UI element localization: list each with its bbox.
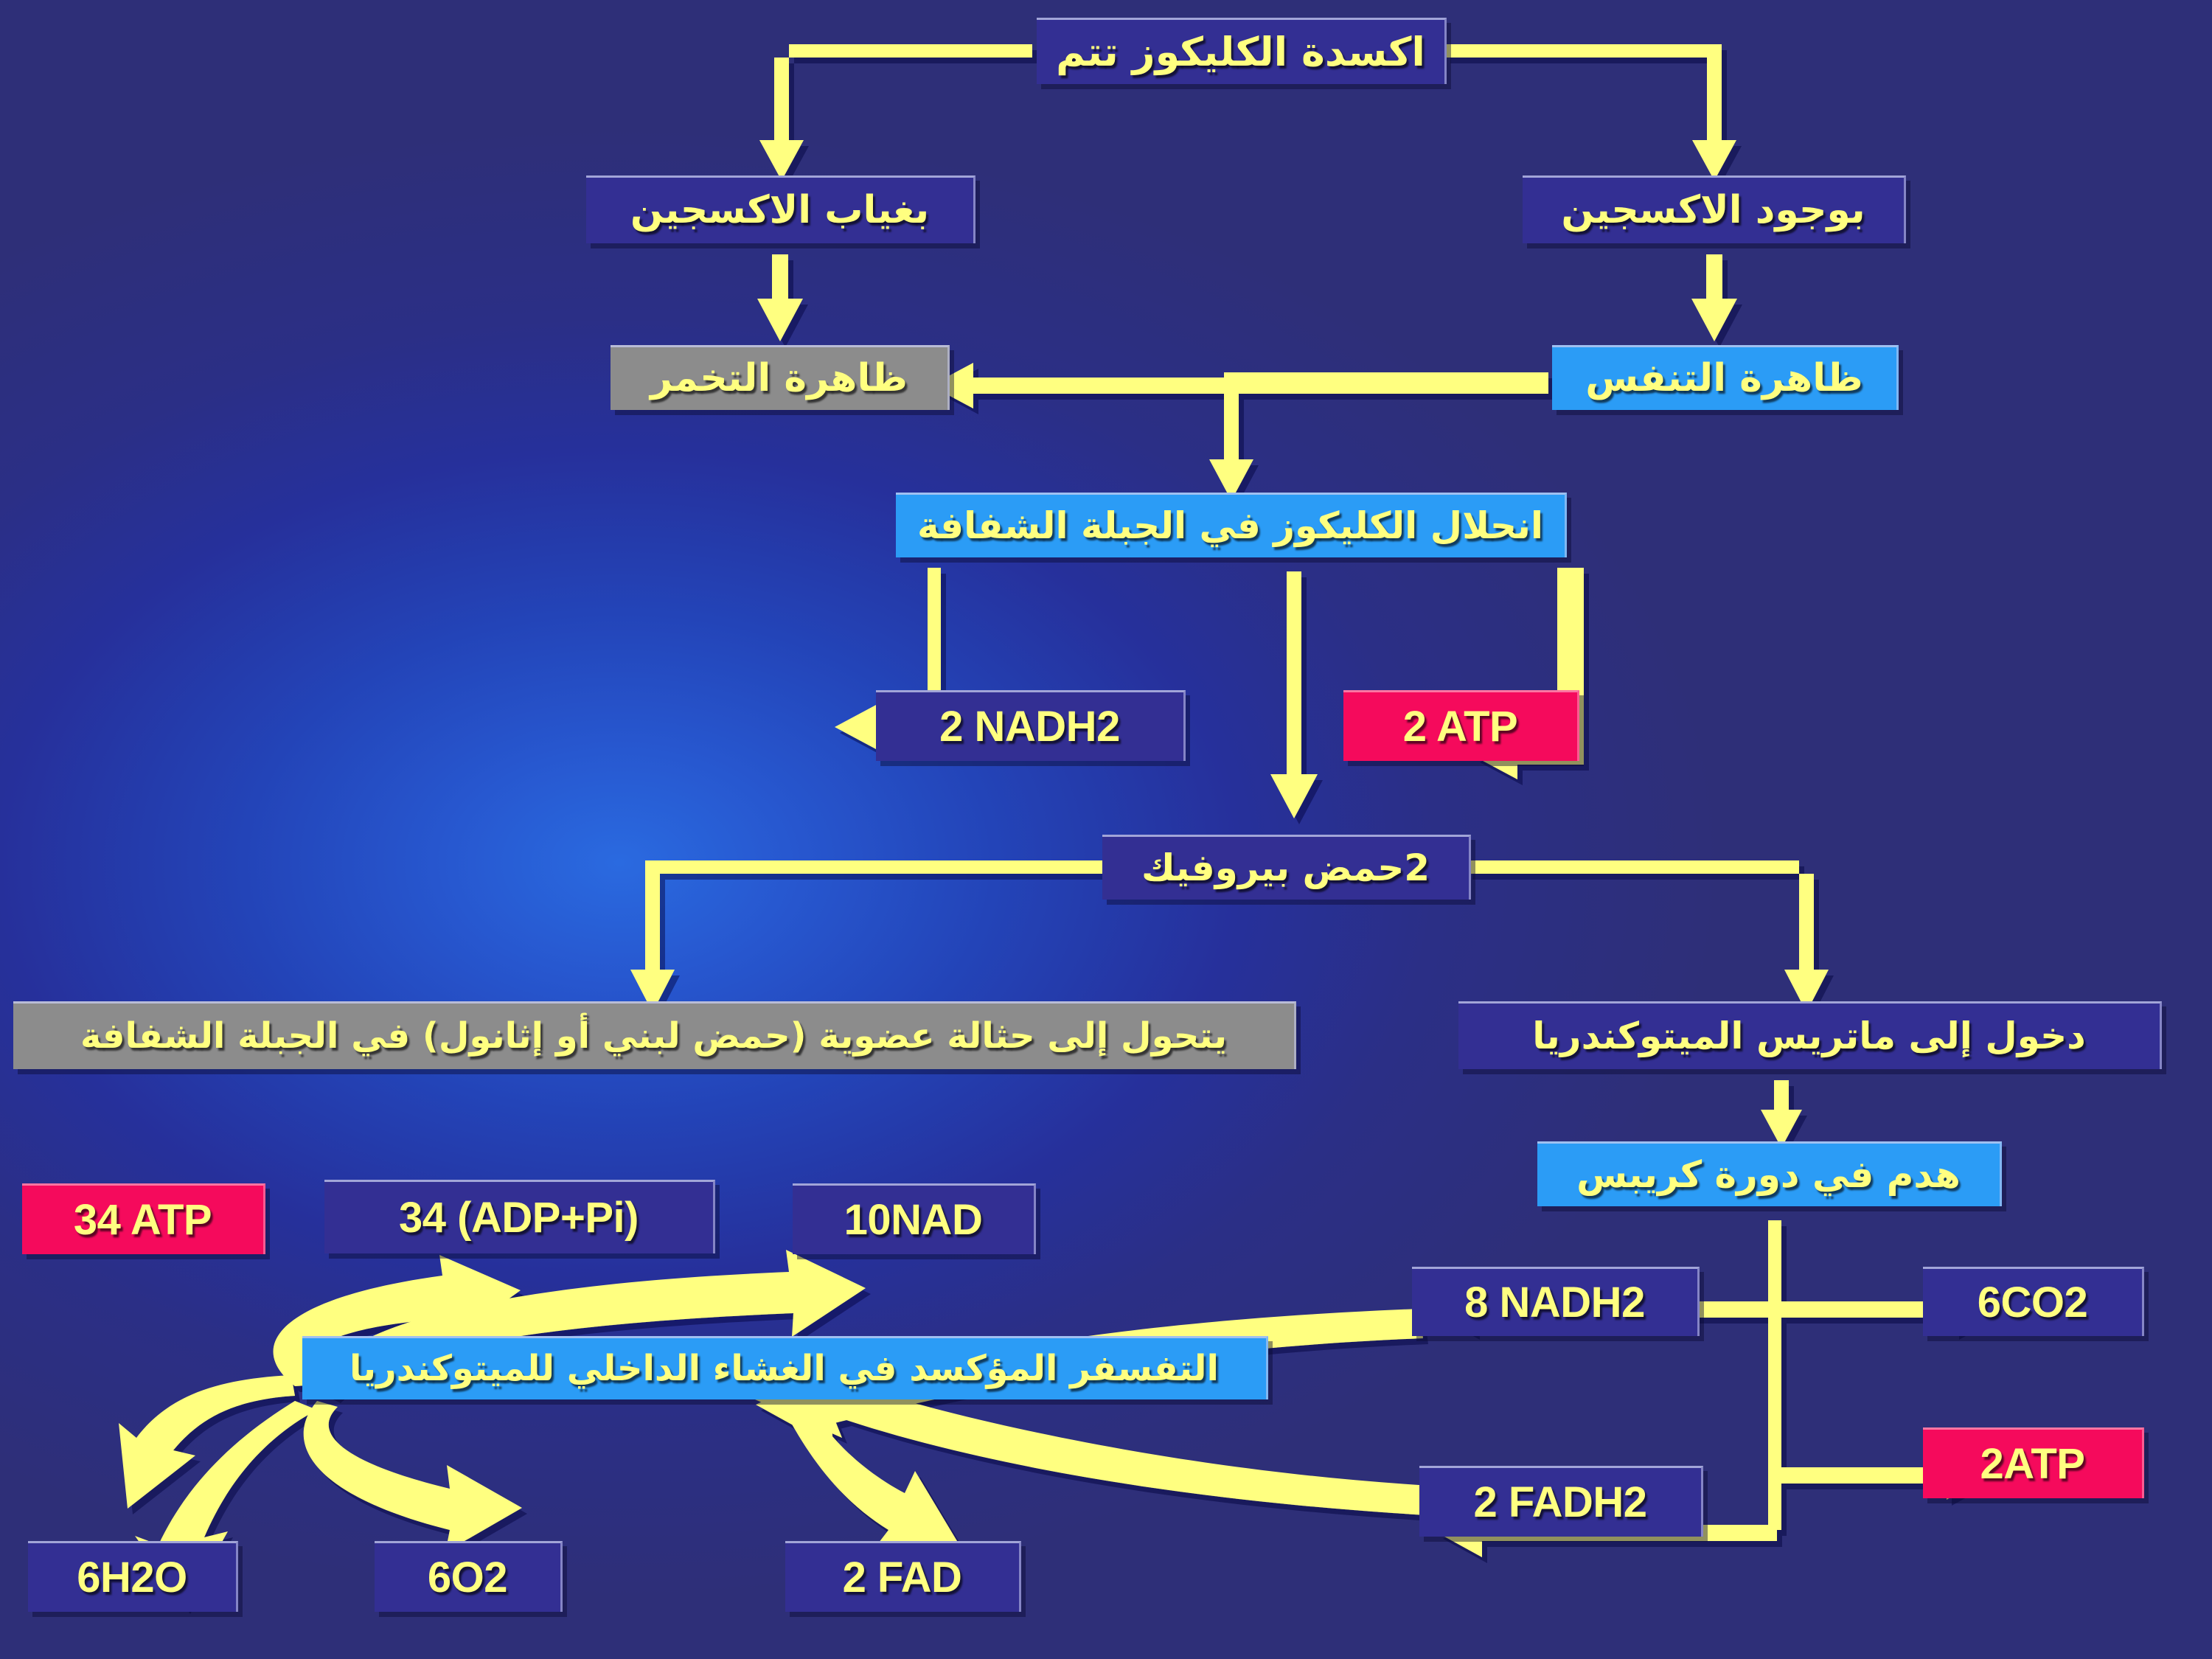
node-nadh2-2[interactable]: 2 NADH2 [876, 690, 1186, 761]
node-nadh2-8[interactable]: 8 NADH2 [1412, 1267, 1700, 1336]
edge-aerobic-to-respiration [1691, 254, 1737, 341]
node-oxidative-phosphorylation[interactable]: التفسفر المؤكسد في الغشاء الداخلي للميتو… [302, 1336, 1268, 1399]
slide-canvas: اكسدة الكليكوز تتم بغياب الاكسجين بوجود … [0, 0, 2212, 1659]
node-adp-pi-34[interactable]: 34 (ADP+Pi) [324, 1180, 715, 1253]
edge-oxidation-to-aerobic [1445, 44, 1736, 181]
node-respiration[interactable]: ظاهرة التنفس [1552, 345, 1899, 410]
node-nad-10[interactable]: 10NAD [793, 1183, 1036, 1254]
node-mitochondrial-matrix[interactable]: دخول إلى ماتريس الميتوكندريا [1458, 1001, 2162, 1069]
edge-oxidation-to-anaerobic [759, 44, 1032, 181]
node-with-oxygen[interactable]: بوجود الاكسجين [1523, 175, 1906, 243]
node-o2-6[interactable]: 6O2 [375, 1541, 563, 1612]
node-h2o-6[interactable]: 6H2O [28, 1541, 238, 1612]
node-atp-34[interactable]: 34 ATP [22, 1183, 265, 1254]
node-krebs-cycle[interactable]: هدم في دورة كريبس [1537, 1141, 2002, 1206]
edge-glycolysis-to-pyruvate [1270, 571, 1318, 818]
edge-anaerobic-to-fermentation [757, 254, 803, 341]
edge-o2-to-oxphos [304, 1401, 522, 1552]
node-fadh2-2[interactable]: 2 FADH2 [1419, 1466, 1703, 1537]
node-without-oxygen[interactable]: بغياب الاكسجين [586, 175, 975, 243]
edge-pyruvate-to-waste [630, 860, 1135, 1012]
node-fermentation[interactable]: ظاهرة التخمر [611, 345, 950, 410]
node-pyruvic-acid[interactable]: 2حمض بيروفيك [1102, 835, 1471, 900]
connector-layer [0, 0, 2212, 1659]
edge-pyruvate-to-matrix [1467, 860, 1829, 1012]
node-atp-2[interactable]: 2 ATP [1343, 690, 1579, 761]
node-atp-2-krebs[interactable]: 2ATP [1923, 1427, 2144, 1498]
edge-matrix-to-krebs [1761, 1080, 1802, 1148]
node-fad-2[interactable]: 2 FAD [785, 1541, 1021, 1612]
node-glycolysis[interactable]: انحلال الكليكوز في الجبلة الشفافة [896, 493, 1567, 557]
node-glucose-oxidation[interactable]: اكسدة الكليكوز تتم [1037, 18, 1447, 84]
node-co2-6[interactable]: 6CO2 [1923, 1267, 2144, 1336]
node-organic-waste[interactable]: يتحول إلى حثالة عضوية (حمض لبني أو إثانو… [13, 1001, 1296, 1069]
